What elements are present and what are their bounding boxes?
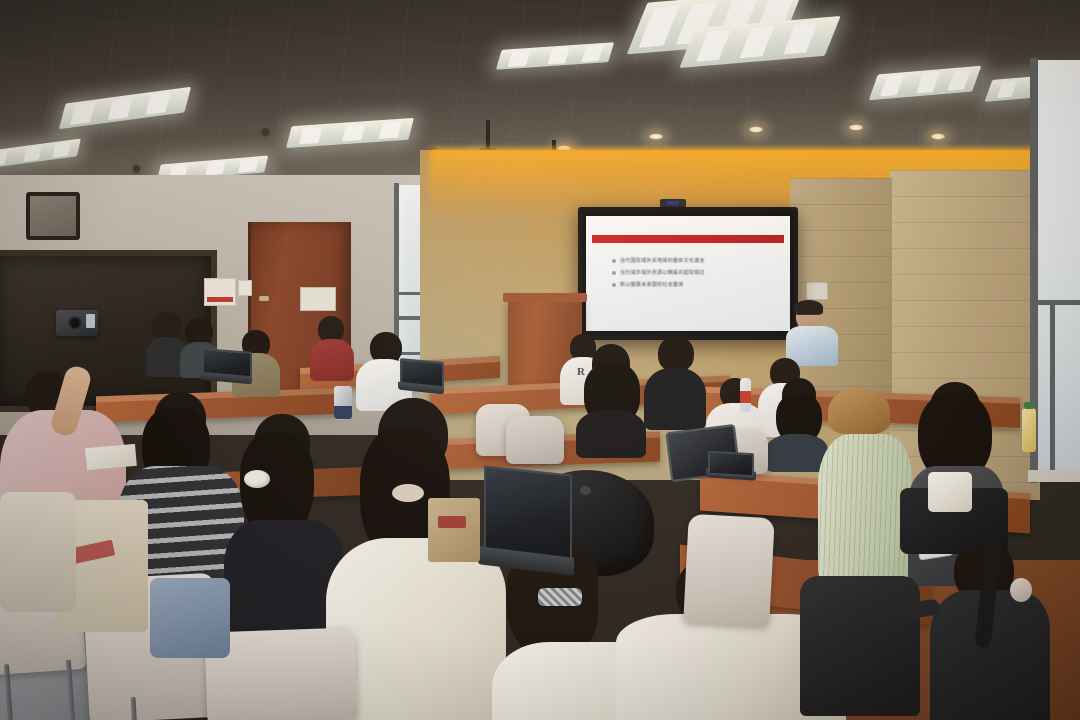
wall-control-panel[interactable]: [806, 282, 828, 300]
bullet-icon: [612, 259, 616, 263]
door-sign: [300, 287, 336, 311]
hair: [828, 388, 890, 434]
bullet-icon: [612, 283, 616, 287]
laptop[interactable]: [478, 470, 570, 578]
water-bottle: [740, 378, 751, 412]
laptop[interactable]: [398, 360, 442, 394]
list-item: [576, 344, 646, 454]
compact-camera: [56, 310, 98, 336]
window-mullion: [1050, 305, 1055, 480]
slide-bullet-list: 当代国际域外关地缘的整体文化渡含 当代域外域外资源以精属共起际相过 新山整路未来…: [612, 258, 780, 294]
sprinkler-head: [133, 165, 140, 172]
downlight: [930, 133, 946, 140]
downlight: [748, 126, 764, 133]
bottle-cap: [1024, 402, 1034, 409]
wall-notice-highlight: [207, 297, 233, 302]
chair[interactable]: [683, 514, 775, 626]
bottle-label: [740, 391, 751, 403]
slide-bullet-text: 新山整路未来国的社会整读: [620, 282, 684, 288]
head: [658, 336, 694, 372]
torso: [576, 410, 646, 458]
slide-bullet-text: 当代国际域外关地缘的整体文化渡含: [620, 258, 705, 264]
tote-bag: [428, 498, 480, 562]
torso: [310, 339, 354, 381]
slide-accent-bar: [592, 235, 784, 243]
jacket-on-chair: [0, 492, 76, 612]
notebook: [85, 444, 137, 470]
wall-notice-sign: [238, 280, 252, 296]
bag-charm: [1010, 578, 1032, 602]
downlight: [848, 124, 864, 131]
hair-scrunchie: [244, 470, 270, 488]
slide: 当代国际域外关地缘的整体文化渡含 当代域外域外资源以精属共起际相过 新山整路未来…: [586, 216, 790, 331]
hair-scrunchie: [392, 484, 424, 502]
tissue-pack: [928, 472, 972, 512]
bullet-icon: [612, 271, 616, 275]
chair[interactable]: [506, 416, 564, 464]
laptop-screen[interactable]: [708, 451, 754, 477]
camera-lens-icon: [68, 316, 82, 330]
laptop[interactable]: [200, 350, 250, 384]
list-item: [310, 316, 354, 378]
list-item: 当代域外域外资源以精属共起际相过: [612, 270, 780, 276]
podium-top: [503, 293, 587, 302]
downlight: [648, 133, 664, 140]
glasses-icon: [798, 314, 818, 319]
lecture-hall-photo: 当代国际域外关地缘的整体文化渡含 当代域外域外资源以精属共起际相过 新山整路未来…: [0, 0, 1080, 720]
chair-leg: [131, 697, 140, 720]
window-mullion: [1036, 300, 1080, 305]
window-right: [1036, 60, 1080, 480]
laptop[interactable]: [706, 452, 752, 482]
cap-button: [580, 486, 591, 495]
list-item: 新山整路未来国的社会整读: [612, 282, 780, 288]
slide-bullet-text: 当代域外域外资源以精属共起际相过: [620, 270, 705, 276]
thermos-band: [334, 406, 352, 419]
presentation-display[interactable]: 当代国际域外关地缘的整体文化渡含 当代域外域外资源以精属共起际相过 新山整路未来…: [578, 207, 798, 340]
juice-bottle: [1022, 408, 1036, 452]
hair-clip: [538, 588, 582, 606]
presenter: [786, 302, 842, 364]
sprinkler-head: [262, 128, 269, 135]
camera-screen: [86, 314, 95, 328]
torso: [644, 368, 706, 430]
office-chair[interactable]: [800, 576, 920, 716]
list-item: 当代国际域外关地缘的整体文化渡含: [612, 258, 780, 264]
tote-logo: [438, 516, 466, 528]
presenter-hair: [794, 300, 823, 315]
denim-jacket: [150, 578, 230, 658]
thermos-cup: [334, 386, 352, 420]
window-sill: [1028, 470, 1080, 482]
wall-notice-sign: [204, 278, 236, 306]
door-knob[interactable]: [259, 296, 269, 301]
wall-clock: [26, 192, 80, 240]
list-item: [644, 336, 706, 436]
